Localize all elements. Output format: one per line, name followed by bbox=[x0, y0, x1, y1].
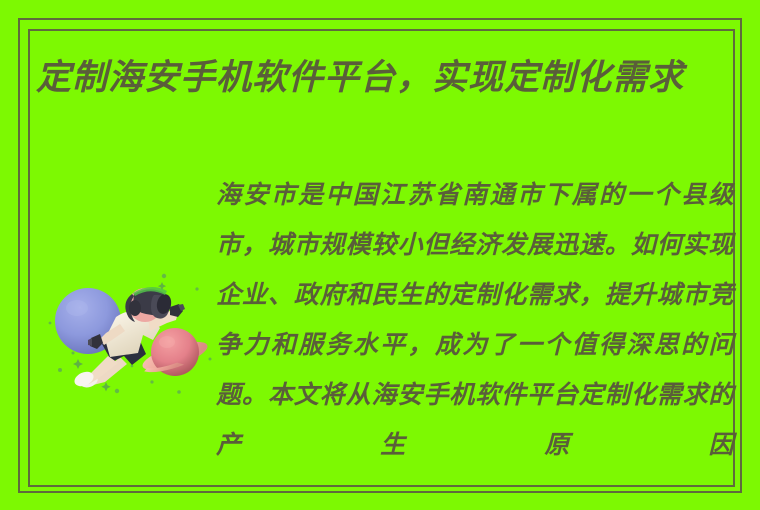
poster-canvas: 定制海安手机软件平台，实现定制化需求 海安市是中国江苏省南通市下属的一个县级市，… bbox=[0, 0, 760, 510]
page-title: 定制海安手机软件平台，实现定制化需求 bbox=[36, 54, 760, 102]
vr-person-illustration bbox=[44, 262, 224, 398]
